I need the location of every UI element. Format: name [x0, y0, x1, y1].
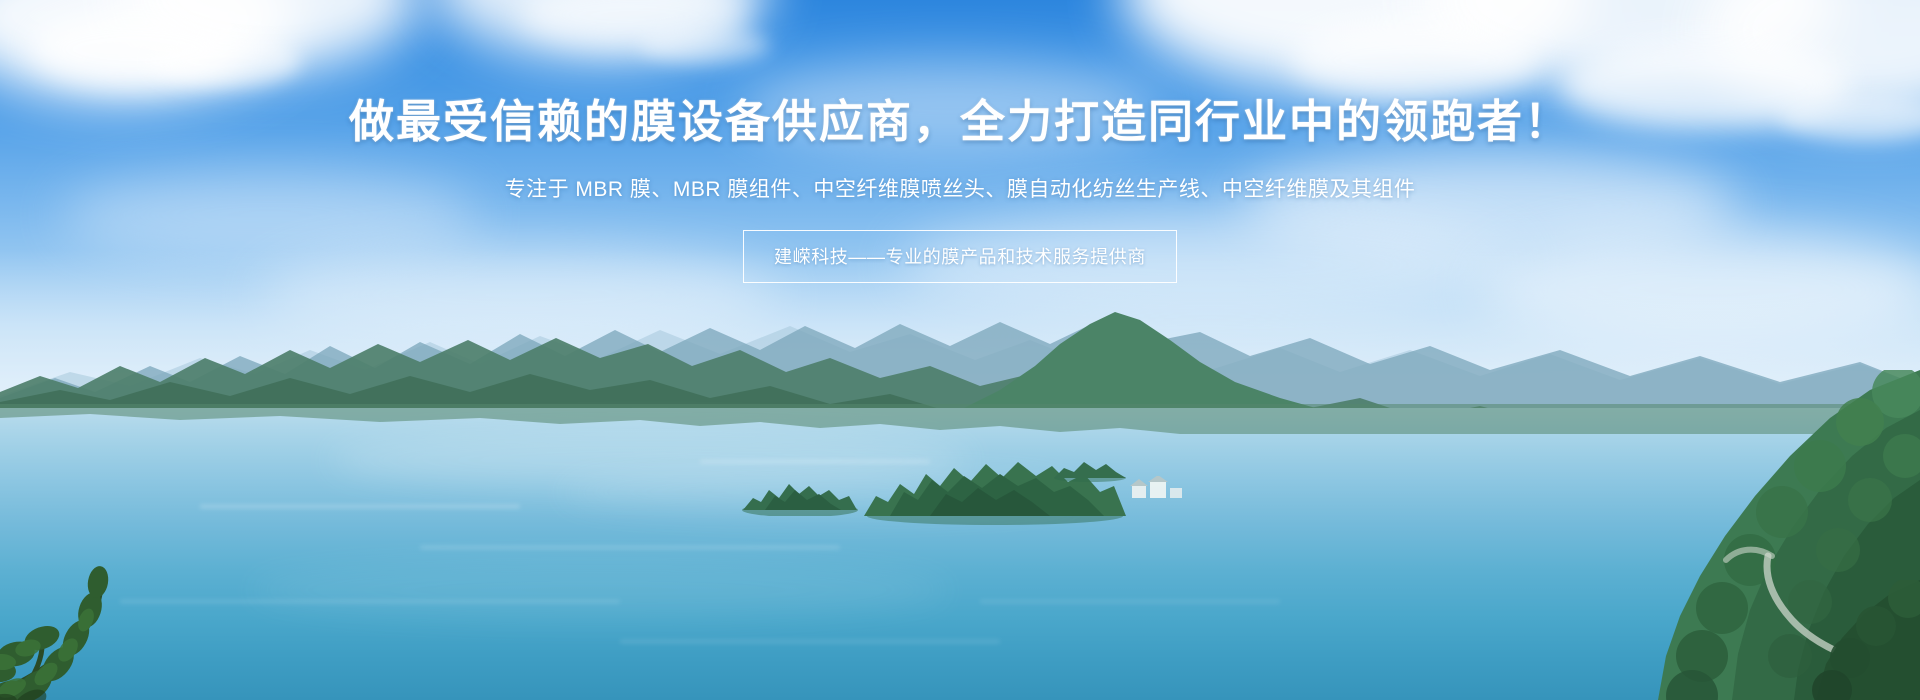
island-center — [735, 468, 865, 516]
water-streak — [200, 505, 520, 508]
cloud-shape — [150, 36, 300, 86]
cloud-shape — [60, 170, 480, 260]
cloud-shape — [740, 60, 1160, 150]
cloud-shape — [640, 28, 770, 64]
water-streak — [620, 640, 1000, 643]
hero-banner: 做最受信赖的膜设备供应商，全力打造同行业中的领跑者！ 专注于 MBR 膜、MBR… — [0, 0, 1920, 700]
shore-buildings — [1128, 476, 1198, 500]
foreground-tree-branch — [0, 510, 220, 700]
water-sheen — [250, 560, 950, 620]
banner-tagline-box[interactable]: 建嵘科技——专业的膜产品和技术服务提供商 — [743, 230, 1177, 283]
foreground-foliage-right — [1620, 580, 1920, 700]
cloud-shape — [1290, 20, 1540, 100]
islet-small — [1050, 452, 1130, 482]
water-streak — [420, 546, 840, 549]
water-streak — [980, 600, 1280, 603]
